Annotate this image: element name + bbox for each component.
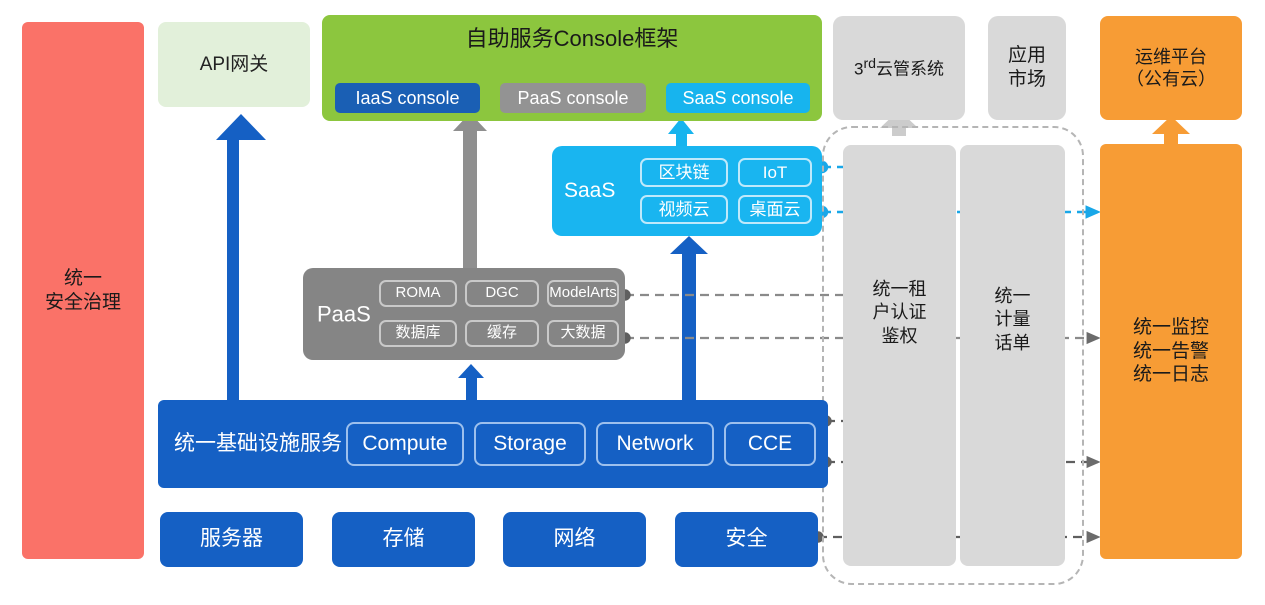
third-party-sup: rd <box>863 56 876 72</box>
paas-chip-bigdata[interactable]: 大数据 <box>547 320 619 347</box>
ops-capability-alarm: 统一告警 <box>1133 340 1209 364</box>
unified-metering-line3: 话单 <box>960 332 1065 355</box>
arrow-ops-body-to-top <box>1152 116 1190 146</box>
arrow-infra-to-paas <box>458 364 484 402</box>
unified-infrastructure-label: 统一基础设施服务 <box>174 431 342 457</box>
app-market-line1: 应用 <box>1008 44 1046 68</box>
resource-security-box[interactable]: 安全 <box>675 512 818 567</box>
arrow-paas-to-console <box>453 113 487 270</box>
saas-chip-iot[interactable]: IoT <box>738 158 812 187</box>
iaas-console-chip[interactable]: IaaS console <box>335 83 480 113</box>
ops-platform-box[interactable]: 运维平台 （公有云） <box>1100 16 1242 120</box>
security-governance-line2: 安全治理 <box>45 291 121 315</box>
paas-layer-box[interactable]: PaaS ROMA DGC ModelArts 数据库 缓存 大数据 <box>303 268 625 360</box>
unified-auth-column[interactable] <box>843 145 956 566</box>
paas-chip-dgc[interactable]: DGC <box>465 280 539 307</box>
ops-platform-line1: 运维平台 <box>1126 46 1216 69</box>
infra-chip-compute[interactable]: Compute <box>346 422 464 466</box>
unified-metering-label: 统一 计量 话单 <box>960 285 1065 355</box>
unified-metering-column[interactable] <box>960 145 1065 566</box>
ops-capabilities-box[interactable]: 统一监控 统一告警 统一日志 <box>1100 144 1242 559</box>
paas-chip-cache[interactable]: 缓存 <box>465 320 539 347</box>
saas-layer-label: SaaS <box>564 178 615 204</box>
unified-auth-line2: 户认证 <box>843 301 956 324</box>
third-party-cloud-mgmt-label: 3rd云管系统 <box>854 56 944 80</box>
unified-infrastructure-box[interactable]: 统一基础设施服务 Compute Storage Network CCE <box>158 400 828 488</box>
api-gateway-label: API网关 <box>200 53 269 77</box>
infra-chip-cce[interactable]: CCE <box>724 422 816 466</box>
resource-storage-box[interactable]: 存储 <box>332 512 475 567</box>
ops-capability-monitoring: 统一监控 <box>1133 316 1209 340</box>
paas-chip-roma[interactable]: ROMA <box>379 280 457 307</box>
resource-network-box[interactable]: 网络 <box>503 512 646 567</box>
saas-chip-blockchain[interactable]: 区块链 <box>640 158 728 187</box>
security-governance-line1: 统一 <box>45 267 121 291</box>
app-market-box[interactable]: 应用 市场 <box>988 16 1066 120</box>
paas-chip-database[interactable]: 数据库 <box>379 320 457 347</box>
console-framework-title: 自助服务Console框架 <box>322 25 822 53</box>
app-market-line2: 市场 <box>1008 68 1046 92</box>
ops-platform-line2: （公有云） <box>1126 68 1216 91</box>
unified-auth-line1: 统一租 <box>843 278 956 301</box>
infra-chip-storage[interactable]: Storage <box>474 422 586 466</box>
architecture-diagram: 统一租 户认证 鉴权 统一 计量 话单 统一 安全治理 API网关 自助服务Co… <box>0 0 1265 605</box>
saas-console-chip[interactable]: SaaS console <box>666 83 810 113</box>
unified-auth-label: 统一租 户认证 鉴权 <box>843 278 956 348</box>
unified-metering-line2: 计量 <box>960 308 1065 331</box>
arrow-infra-to-api-gateway <box>216 114 266 400</box>
paas-console-chip[interactable]: PaaS console <box>500 83 646 113</box>
resource-server-box[interactable]: 服务器 <box>160 512 303 567</box>
arrow-infra-to-saas <box>670 236 708 402</box>
third-party-suffix: 云管系统 <box>876 60 944 79</box>
saas-chip-video-cloud[interactable]: 视频云 <box>640 195 728 224</box>
third-party-cloud-mgmt-box[interactable]: 3rd云管系统 <box>833 16 965 120</box>
console-framework-box[interactable]: 自助服务Console框架 IaaS console PaaS console … <box>322 15 822 121</box>
paas-chip-modelarts[interactable]: ModelArts <box>547 280 619 307</box>
api-gateway-box[interactable]: API网关 <box>158 22 310 107</box>
paas-layer-label: PaaS <box>317 300 371 328</box>
ops-capability-logging: 统一日志 <box>1133 363 1209 387</box>
saas-chip-desktop-cloud[interactable]: 桌面云 <box>738 195 812 224</box>
unified-metering-line1: 统一 <box>960 285 1065 308</box>
unified-auth-line3: 鉴权 <box>843 325 956 348</box>
saas-layer-box[interactable]: SaaS 区块链 IoT 视频云 桌面云 <box>552 146 822 236</box>
security-governance-pillar[interactable]: 统一 安全治理 <box>22 22 144 559</box>
infra-chip-network[interactable]: Network <box>596 422 714 466</box>
